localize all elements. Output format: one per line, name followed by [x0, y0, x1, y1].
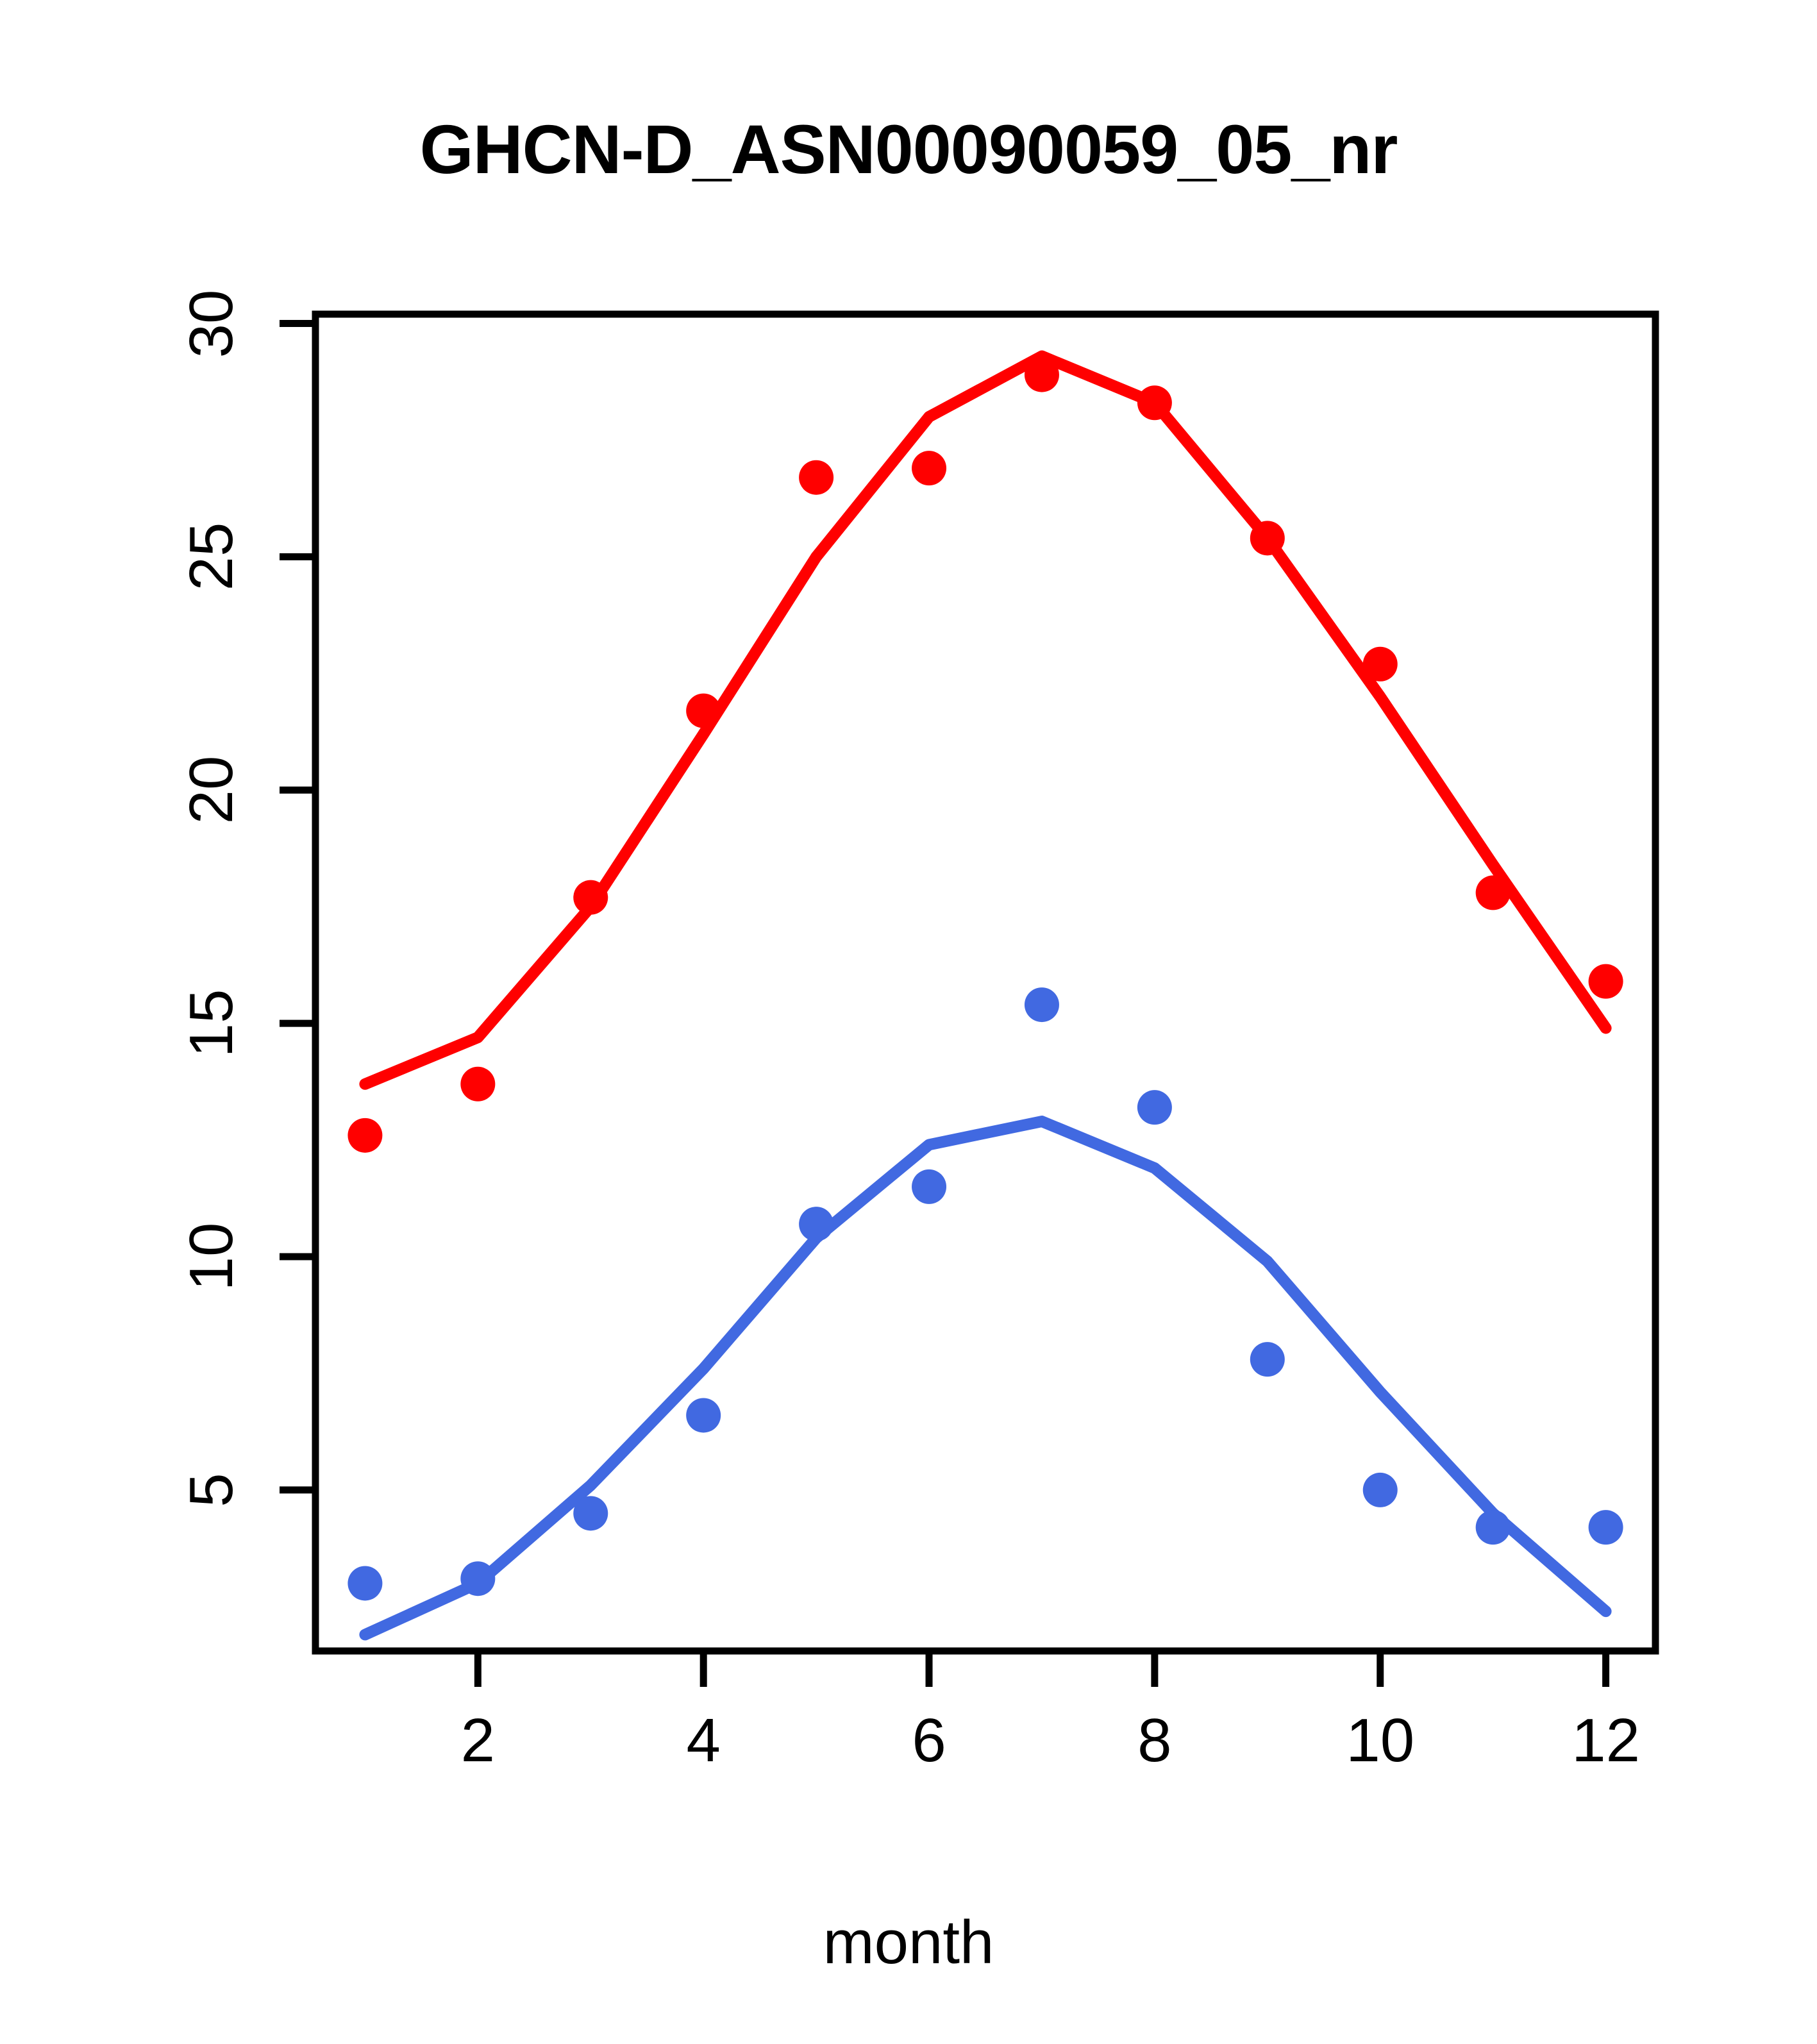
series-point-layer: [347, 358, 1623, 1601]
data-point: [686, 1398, 721, 1432]
data-point: [1250, 1342, 1285, 1377]
data-point: [573, 1496, 608, 1530]
data-point: [686, 694, 721, 728]
data-point: [460, 1561, 495, 1596]
data-point: [1025, 987, 1059, 1022]
data-point: [912, 451, 946, 485]
axis-layer: [280, 314, 1655, 1687]
x-tick-label: 2: [461, 1705, 495, 1776]
data-point: [912, 1169, 946, 1204]
x-axis-label: month: [0, 1907, 1817, 1978]
data-point: [347, 1118, 382, 1153]
chart-canvas: [0, 0, 1817, 2044]
plot-frame: [315, 314, 1655, 1651]
data-point: [799, 460, 833, 495]
data-point: [1250, 521, 1285, 555]
plot-root: GHCN-D_ASN00090059_05_nr 24681012 510152…: [0, 0, 1817, 2044]
x-tick-label: 6: [912, 1705, 946, 1776]
x-tick-label: 4: [686, 1705, 720, 1776]
data-point: [1589, 1510, 1623, 1545]
data-point: [573, 880, 608, 915]
data-point: [1137, 385, 1172, 420]
y-tick-label: 5: [176, 1473, 247, 1507]
x-tick-label: 12: [1571, 1705, 1640, 1776]
data-point: [799, 1207, 833, 1241]
series-line: [365, 1121, 1605, 1635]
x-tick-label: 8: [1137, 1705, 1171, 1776]
y-tick-label: 20: [176, 756, 247, 825]
series-line-layer: [365, 356, 1605, 1634]
y-tick-label: 30: [176, 289, 247, 358]
series-line: [365, 356, 1605, 1084]
y-tick-label: 10: [176, 1223, 247, 1291]
data-point: [1363, 647, 1398, 682]
data-point: [460, 1067, 495, 1102]
data-point: [1137, 1090, 1172, 1125]
data-point: [347, 1566, 382, 1600]
y-tick-label: 25: [176, 523, 247, 591]
data-point: [1025, 358, 1059, 392]
data-point: [1476, 1510, 1511, 1545]
data-point: [1589, 964, 1623, 999]
data-point: [1476, 875, 1511, 910]
y-tick-label: 15: [176, 989, 247, 1058]
data-point: [1363, 1473, 1398, 1507]
x-tick-label: 10: [1346, 1705, 1414, 1776]
